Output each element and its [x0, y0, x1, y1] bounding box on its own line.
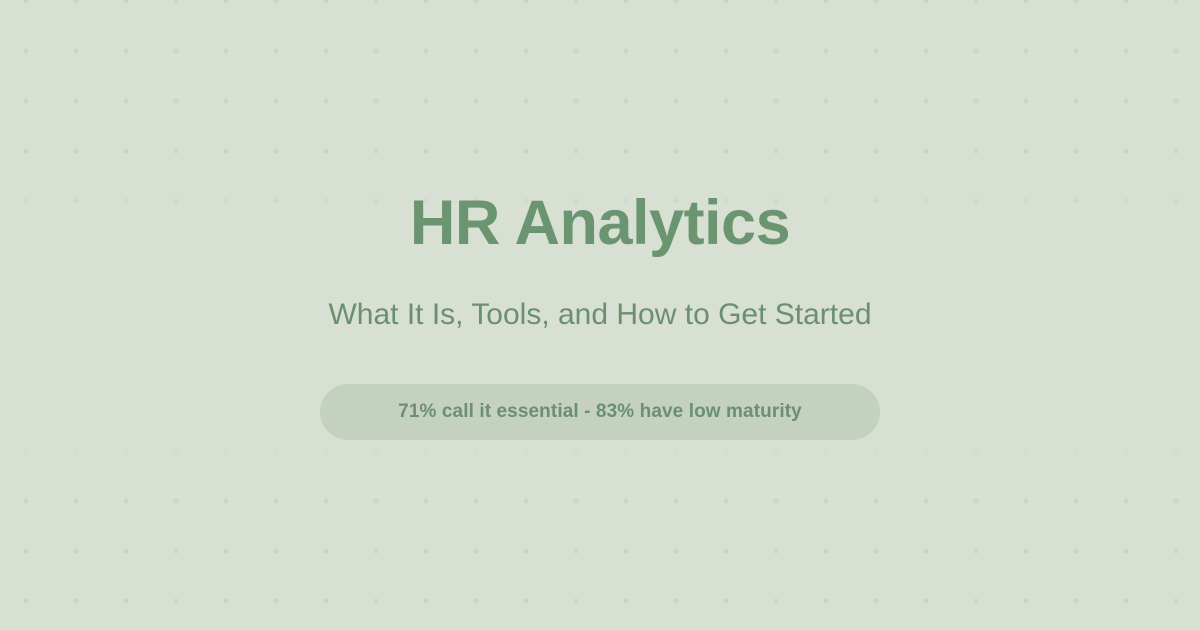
page-title: HR Analytics: [410, 190, 790, 256]
status-badge-label: 71% call it essential - 83% have low mat…: [398, 401, 802, 423]
hero-canvas: HR Analytics What It Is, Tools, and How …: [0, 0, 1200, 630]
status-badge: 71% call it essential - 83% have low mat…: [320, 384, 880, 440]
page-subtitle: What It Is, Tools, and How to Get Starte…: [328, 297, 871, 333]
hero-content: HR Analytics What It Is, Tools, and How …: [0, 0, 1200, 630]
